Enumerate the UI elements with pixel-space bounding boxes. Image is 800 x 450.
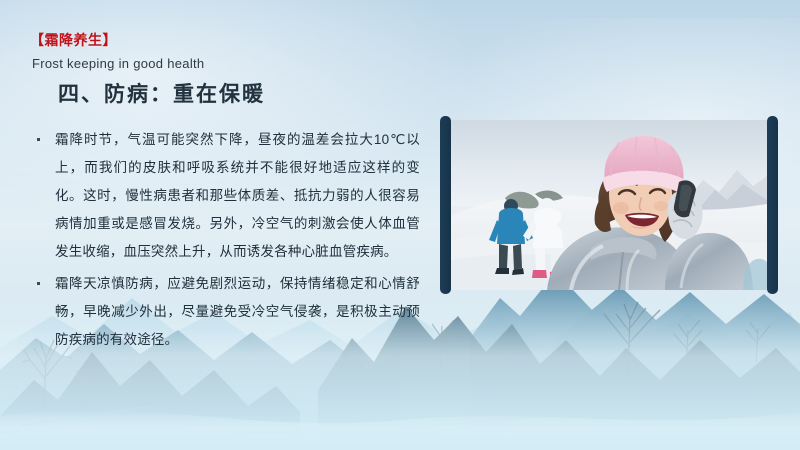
- list-item: 霜降时节，气温可能突然下降，昼夜的温差会拉大10℃以上，而我们的皮肤和呼吸系统并…: [30, 126, 420, 266]
- frame-bar-left: [440, 116, 451, 294]
- bullet-dot-icon: [37, 138, 40, 141]
- eyebrow-chinese: 【霜降养生】: [30, 32, 450, 49]
- slide-canvas: 【霜降养生】 Frost keeping in good health 四、防病…: [0, 0, 800, 450]
- header-block: 【霜降养生】 Frost keeping in good health: [30, 32, 450, 73]
- photo-frame: [440, 116, 778, 294]
- list-item-text: 霜降时节，气温可能突然下降，昼夜的温差会拉大10℃以上，而我们的皮肤和呼吸系统并…: [55, 132, 420, 259]
- bullet-dot-icon: [37, 282, 40, 285]
- list-item: 霜降天凉慎防病，应避免剧烈运动，保持情绪稳定和心情舒畅，早晚减少外出，尽量避免受…: [30, 270, 420, 354]
- eyebrow-english: Frost keeping in good health: [32, 56, 450, 73]
- frame-bar-right: [767, 116, 778, 294]
- snow-photo: [451, 120, 767, 290]
- body-text-column: 霜降时节，气温可能突然下降，昼夜的温差会拉大10℃以上，而我们的皮肤和呼吸系统并…: [30, 126, 420, 358]
- page-title: 四、防病：重在保暖: [58, 82, 265, 108]
- list-item-text: 霜降天凉慎防病，应避免剧烈运动，保持情绪稳定和心情舒畅，早晚减少外出，尽量避免受…: [55, 276, 420, 347]
